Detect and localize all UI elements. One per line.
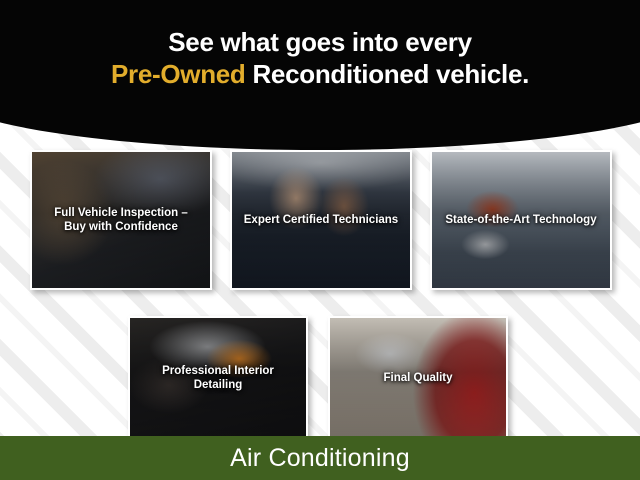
headline-line-2: Pre-Owned Reconditioned vehicle. <box>0 58 640 90</box>
footer-banner-label: Air Conditioning <box>230 444 410 472</box>
feature-card-professional-interior-detailing[interactable]: Professional Interior Detailing <box>128 316 308 440</box>
feature-card-expert-certified-technicians[interactable]: Expert Certified Technicians <box>230 150 412 290</box>
feature-card-state-of-the-art-technology[interactable]: State-of-the-Art Technology <box>430 150 612 290</box>
header-banner: See what goes into every Pre-Owned Recon… <box>0 0 640 150</box>
page-title: See what goes into every Pre-Owned Recon… <box>0 26 640 90</box>
headline-highlight: Pre-Owned <box>111 59 246 89</box>
headline-line-1: See what goes into every <box>168 27 471 57</box>
feature-card-label: State-of-the-Art Technology <box>436 213 606 227</box>
header-content: See what goes into every Pre-Owned Recon… <box>0 0 640 150</box>
feature-card-full-vehicle-inspection[interactable]: Full Vehicle Inspection – Buy with Confi… <box>30 150 212 290</box>
feature-card-label: Final Quality <box>334 371 502 385</box>
feature-card-final-quality[interactable]: Final Quality <box>328 316 508 440</box>
feature-card-label: Professional Interior Detailing <box>134 364 302 392</box>
promo-slide: See what goes into every Pre-Owned Recon… <box>0 0 640 480</box>
feature-card-label: Full Vehicle Inspection – Buy with Confi… <box>36 206 206 234</box>
headline-line-2-rest: Reconditioned vehicle. <box>246 59 530 89</box>
feature-card-label: Expert Certified Technicians <box>236 213 406 227</box>
footer-banner: Air Conditioning <box>0 436 640 480</box>
